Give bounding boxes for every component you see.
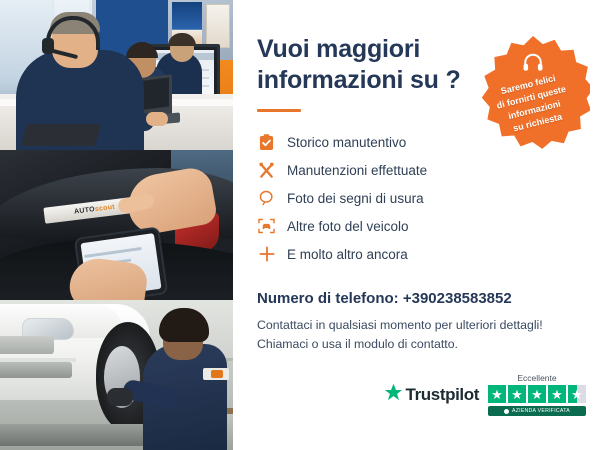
feature-item-more: E molto altro ancora <box>257 240 578 268</box>
trustpilot-rating-label: Eccellente <box>488 373 586 383</box>
clipboard-check-icon <box>257 133 276 152</box>
photo-column: AUTOscout <box>0 0 233 450</box>
agent-hand <box>146 112 168 126</box>
star-icon-full: ★ <box>548 385 566 403</box>
mechanic-uniform-patch-logo <box>211 370 223 378</box>
tools-cross-icon <box>257 161 276 180</box>
photo-call-center-agents-with-headsets <box>0 0 233 150</box>
trustpilot-wordmark: Trustpilot <box>406 385 479 405</box>
promo-banner: AUTOscout <box>0 0 600 450</box>
callout-badge: Saremo felici di fornirti queste informa… <box>476 36 590 150</box>
trustpilot-score-block: Eccellente ★ ★ ★ ★ ★ AZIENDA VERIFICATA <box>488 373 586 416</box>
feature-label: Manutenzioni effettuate <box>287 163 427 178</box>
car-scan-frame-icon <box>257 217 276 236</box>
feature-label: Altre foto del veicolo <box>287 219 409 234</box>
magnifier-icon <box>257 189 276 208</box>
trustpilot-star-icon <box>384 383 403 407</box>
star-icon-full: ★ <box>508 385 526 403</box>
phone-label: Numero di telefono: <box>257 290 399 307</box>
photo-mechanic-inspecting-wheel-on-lift <box>0 300 233 450</box>
title-underline-rule <box>257 109 301 112</box>
content-panel: Vuoi maggiori informazioni su ? Saremo f… <box>233 0 600 450</box>
trustpilot-stars: ★ ★ ★ ★ ★ <box>488 385 586 403</box>
trustpilot-rating[interactable]: Trustpilot Eccellente ★ ★ ★ ★ ★ AZIENDA … <box>384 373 586 416</box>
feature-label: Foto dei segni di usura <box>287 191 424 206</box>
plus-icon <box>257 245 276 264</box>
verified-business-badge: AZIENDA VERIFICATA <box>488 406 586 416</box>
feature-label: Storico manutentivo <box>287 135 406 150</box>
trustpilot-logo: Trustpilot <box>384 383 479 416</box>
wall-poster-secondary <box>206 4 230 48</box>
phone-number-heading: Numero di telefono: +390238583852 <box>257 290 578 307</box>
photo-technician-measuring-car-paint-with-tablet: AUTOscout <box>0 150 233 300</box>
star-icon-half: ★ <box>568 385 586 403</box>
contact-note: Contattaci in qualsiasi momento per ulte… <box>257 316 578 354</box>
car-grille <box>0 336 54 354</box>
feature-item-vehicle-photos: Altre foto del veicolo <box>257 212 578 240</box>
star-icon-full: ★ <box>488 385 506 403</box>
page-title: Vuoi maggiori informazioni su ? <box>257 34 472 95</box>
verified-badge-label: AZIENDA VERIFICATA <box>512 408 570 414</box>
desk-tablet <box>21 124 100 146</box>
feature-item-maintenance-performed: Manutenzioni effettuate <box>257 156 578 184</box>
feature-item-wear-photos: Foto dei segni di usura <box>257 184 578 212</box>
car-lower-grille <box>0 362 72 378</box>
mechanic-glove <box>107 388 133 406</box>
star-icon-full: ★ <box>528 385 546 403</box>
check-circle-icon <box>504 409 509 414</box>
phone-number[interactable]: +390238583852 <box>403 290 512 307</box>
feature-label: E molto altro ancora <box>287 247 408 262</box>
